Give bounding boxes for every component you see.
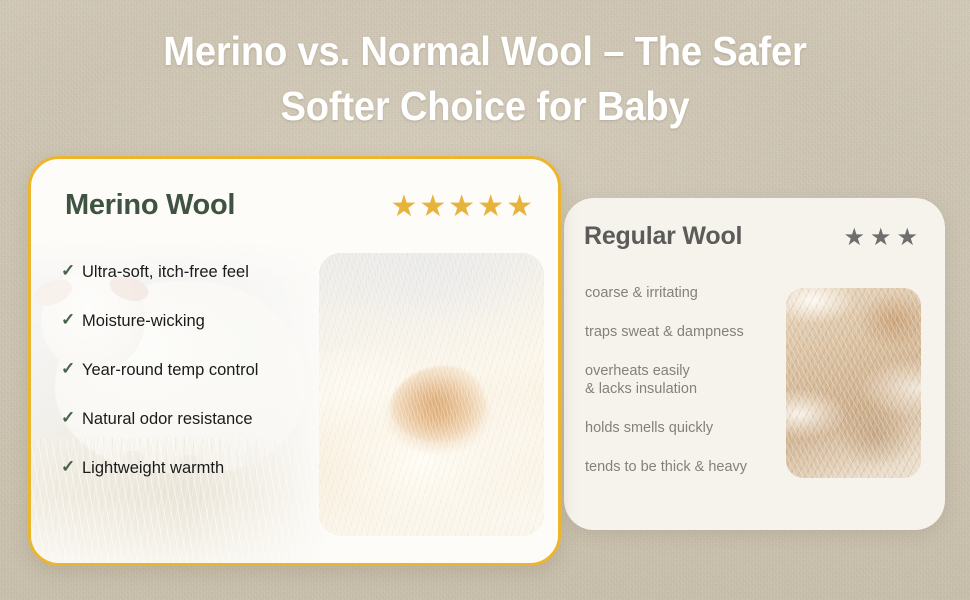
list-item: holds smells quickly	[585, 419, 800, 437]
list-item: traps sweat & dampness	[585, 323, 800, 341]
check-icon: ✓	[61, 309, 75, 331]
list-item-label: Ultra-soft, itch-free feel	[82, 263, 249, 281]
regular-wool-title: Regular Wool	[584, 222, 742, 251]
merino-wool-photo	[319, 253, 544, 536]
coarse-wool-photo-texture	[786, 288, 921, 478]
list-item: ✓ Natural odor resistance	[61, 408, 331, 430]
check-icon: ✓	[61, 456, 75, 478]
regular-wool-header: Regular Wool ★★★	[584, 222, 929, 262]
list-item: tends to be thick & heavy	[585, 458, 800, 476]
check-icon: ✓	[61, 407, 75, 429]
list-item: ✓ Lightweight warmth	[61, 457, 331, 479]
page-title: Merino vs. Normal Wool – The Safer Softe…	[34, 24, 936, 134]
page-title-line-1: Merino vs. Normal Wool – The Safer	[34, 24, 936, 79]
list-item-label: Natural odor resistance	[82, 410, 253, 428]
list-item: overheats easily & lacks insulation	[585, 362, 800, 398]
merino-wool-header: Merino Wool ★★★★★	[65, 189, 535, 233]
check-icon: ✓	[61, 358, 75, 380]
merino-wool-title: Merino Wool	[65, 189, 235, 222]
merino-wool-card: Merino Wool ★★★★★ ✓ Ultra-soft, itch-fre…	[28, 156, 561, 566]
regular-wool-card: Regular Wool ★★★ coarse & irritating tra…	[564, 198, 945, 530]
regular-wool-drawback-list: coarse & irritating traps sweat & dampne…	[585, 284, 800, 497]
merino-wool-photo-fibers	[319, 253, 544, 536]
list-item: ✓ Ultra-soft, itch-free feel	[61, 261, 331, 283]
list-item-label: Year-round temp control	[82, 361, 258, 379]
list-item: ✓ Moisture-wicking	[61, 310, 331, 332]
merino-wool-rating-stars: ★★★★★	[391, 190, 535, 224]
list-item-label: Moisture-wicking	[82, 312, 205, 330]
check-icon: ✓	[61, 260, 75, 282]
list-item: ✓ Year-round temp control	[61, 359, 331, 381]
regular-wool-rating-stars: ★★★	[843, 224, 923, 252]
list-item-label: Lightweight warmth	[82, 459, 224, 477]
page-title-line-2: Softer Choice for Baby	[34, 79, 936, 134]
merino-wool-benefit-list: ✓ Ultra-soft, itch-free feel ✓ Moisture-…	[61, 261, 331, 506]
list-item: coarse & irritating	[585, 284, 800, 302]
coarse-wool-photo	[786, 288, 921, 478]
